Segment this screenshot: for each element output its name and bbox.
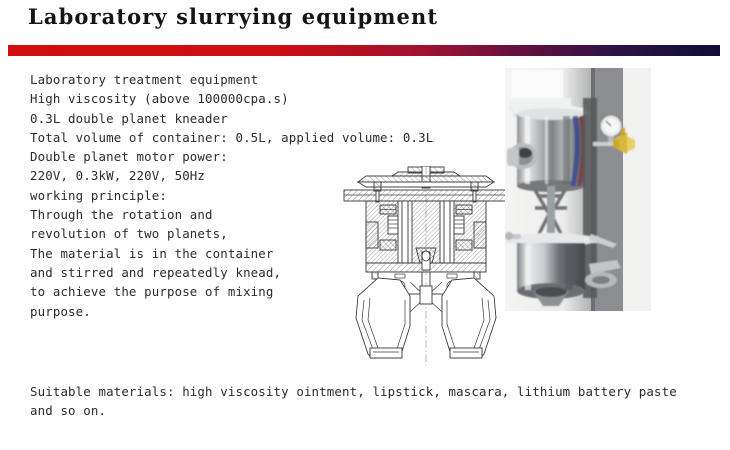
page-title: Laboratory slurrying equipment [28,4,438,29]
mixer-cross-section-diagram [336,166,516,366]
gradient-divider [8,45,720,56]
footer-text-block: Suitable materials: high viscosity ointm… [30,382,710,421]
footer-line: Suitable materials: high viscosity ointm… [30,382,710,401]
footer-line: and so on. [30,401,710,420]
spec-line: Double planet motor power: [30,147,450,166]
spec-line: Laboratory treatment equipment [30,70,450,89]
product-photo [505,68,651,311]
spec-line: Total volume of container: 0.5L, applied… [30,128,450,147]
slide-page: Laboratory slurrying equipment Laborator… [0,0,730,450]
spec-line: High viscosity (above 100000cpa.s) [30,89,450,108]
spec-line: 0.3L double planet kneader [30,109,450,128]
